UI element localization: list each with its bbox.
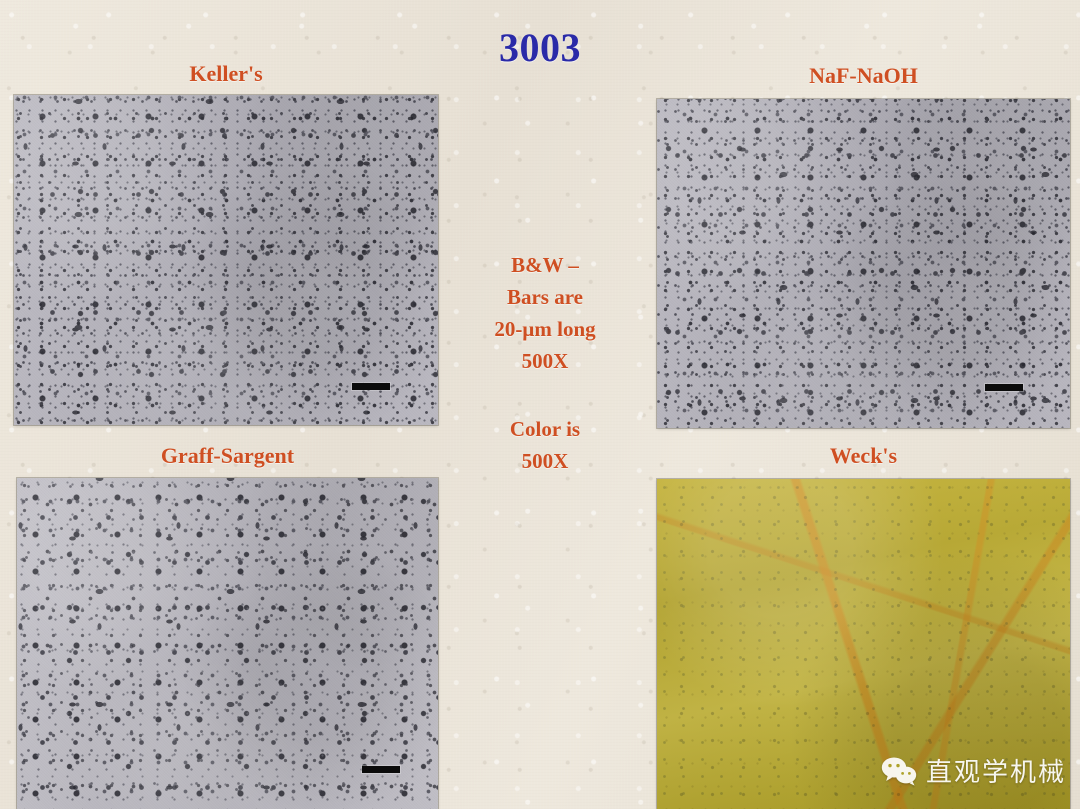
note-line: Bars are: [445, 282, 645, 314]
note-line: B&W –: [445, 250, 645, 282]
note-black-and-white: B&W – Bars are 20-µm long 500X: [445, 250, 645, 378]
micrograph-nafnaoh[interactable]: [657, 99, 1070, 428]
note-line: 500X: [445, 446, 645, 478]
panel-label-graffsargent: Graff-Sargent: [17, 443, 438, 469]
micrograph-kellers[interactable]: [14, 95, 438, 425]
note-line: 500X: [445, 346, 645, 378]
scale-bar-nafnaoh: [985, 384, 1023, 391]
note-line: 20-µm long: [445, 314, 645, 346]
wechat-watermark: 直观学机械: [881, 752, 1066, 789]
watermark-text: 直观学机械: [926, 752, 1066, 789]
note-color: Color is 500X: [445, 414, 645, 478]
micrograph-film-grain: [17, 478, 438, 809]
wechat-icon: [881, 756, 917, 786]
panel-label-wecks: Weck's: [657, 443, 1070, 469]
panel-label-nafnaoh: NaF-NaOH: [657, 63, 1070, 89]
micrograph-film-grain: [657, 99, 1070, 428]
micrograph-graffsargent[interactable]: [17, 478, 438, 809]
scale-bar-kellers: [352, 383, 390, 390]
panel-label-kellers: Keller's: [14, 61, 438, 87]
micrograph-film-grain: [14, 95, 438, 425]
note-line: Color is: [445, 414, 645, 446]
scale-bar-graffsargent: [362, 766, 400, 773]
